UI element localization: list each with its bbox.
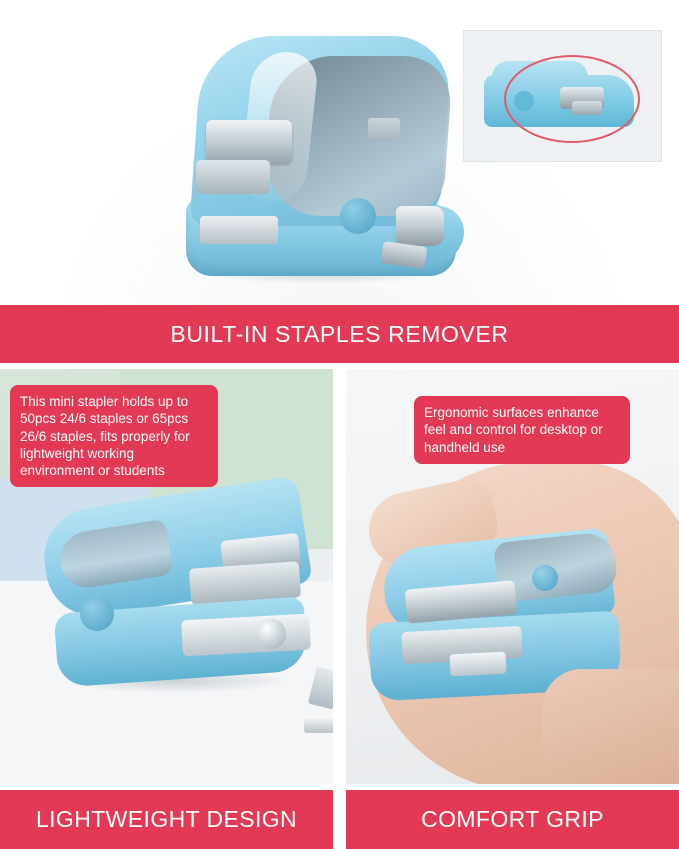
bl-rotating-anvil-disc [256,619,286,649]
panel-staples-remover [0,0,679,305]
banner-lightweight-design-label: LIGHTWEIGHT DESIGN [36,806,297,833]
zoom-callout-inset [463,30,662,162]
stapler-anvil-plate [200,216,278,244]
callout-lightweight-design: This mini stapler holds up to 50pcs 24/6… [10,385,218,487]
br-stapler-knob [532,565,558,591]
br-stapler-anvil-plate [449,652,506,677]
staple-remover-jaw [196,160,270,194]
bl-stapler-knob [80,597,114,631]
stapler-nose-metal [396,206,444,246]
callout-comfort-grip: Ergonomic surfaces enhance feel and cont… [414,396,630,464]
banner-staples-remover-label: BUILT-IN STAPLES REMOVER [170,321,508,348]
banner-comfort-grip-label: COMFORT GRIP [421,806,604,833]
infographic-sheet: BUILT-IN STAPLES REMOVER This mini stapl… [0,0,679,849]
bl-staple-strip [304,719,333,733]
stapler-brand-label [368,118,400,140]
banner-comfort-grip: COMFORT GRIP [346,790,679,849]
highlight-ellipse [504,55,640,143]
bl-stapler-anvil-plate [181,614,311,657]
banner-staples-remover: BUILT-IN STAPLES REMOVER [0,305,679,363]
divider-vertical [333,369,346,849]
banner-lightweight-design: LIGHTWEIGHT DESIGN [0,790,333,849]
stapler-side-knob [340,198,376,234]
staple-remover-plate [206,120,292,164]
hand-wrist [542,669,679,784]
